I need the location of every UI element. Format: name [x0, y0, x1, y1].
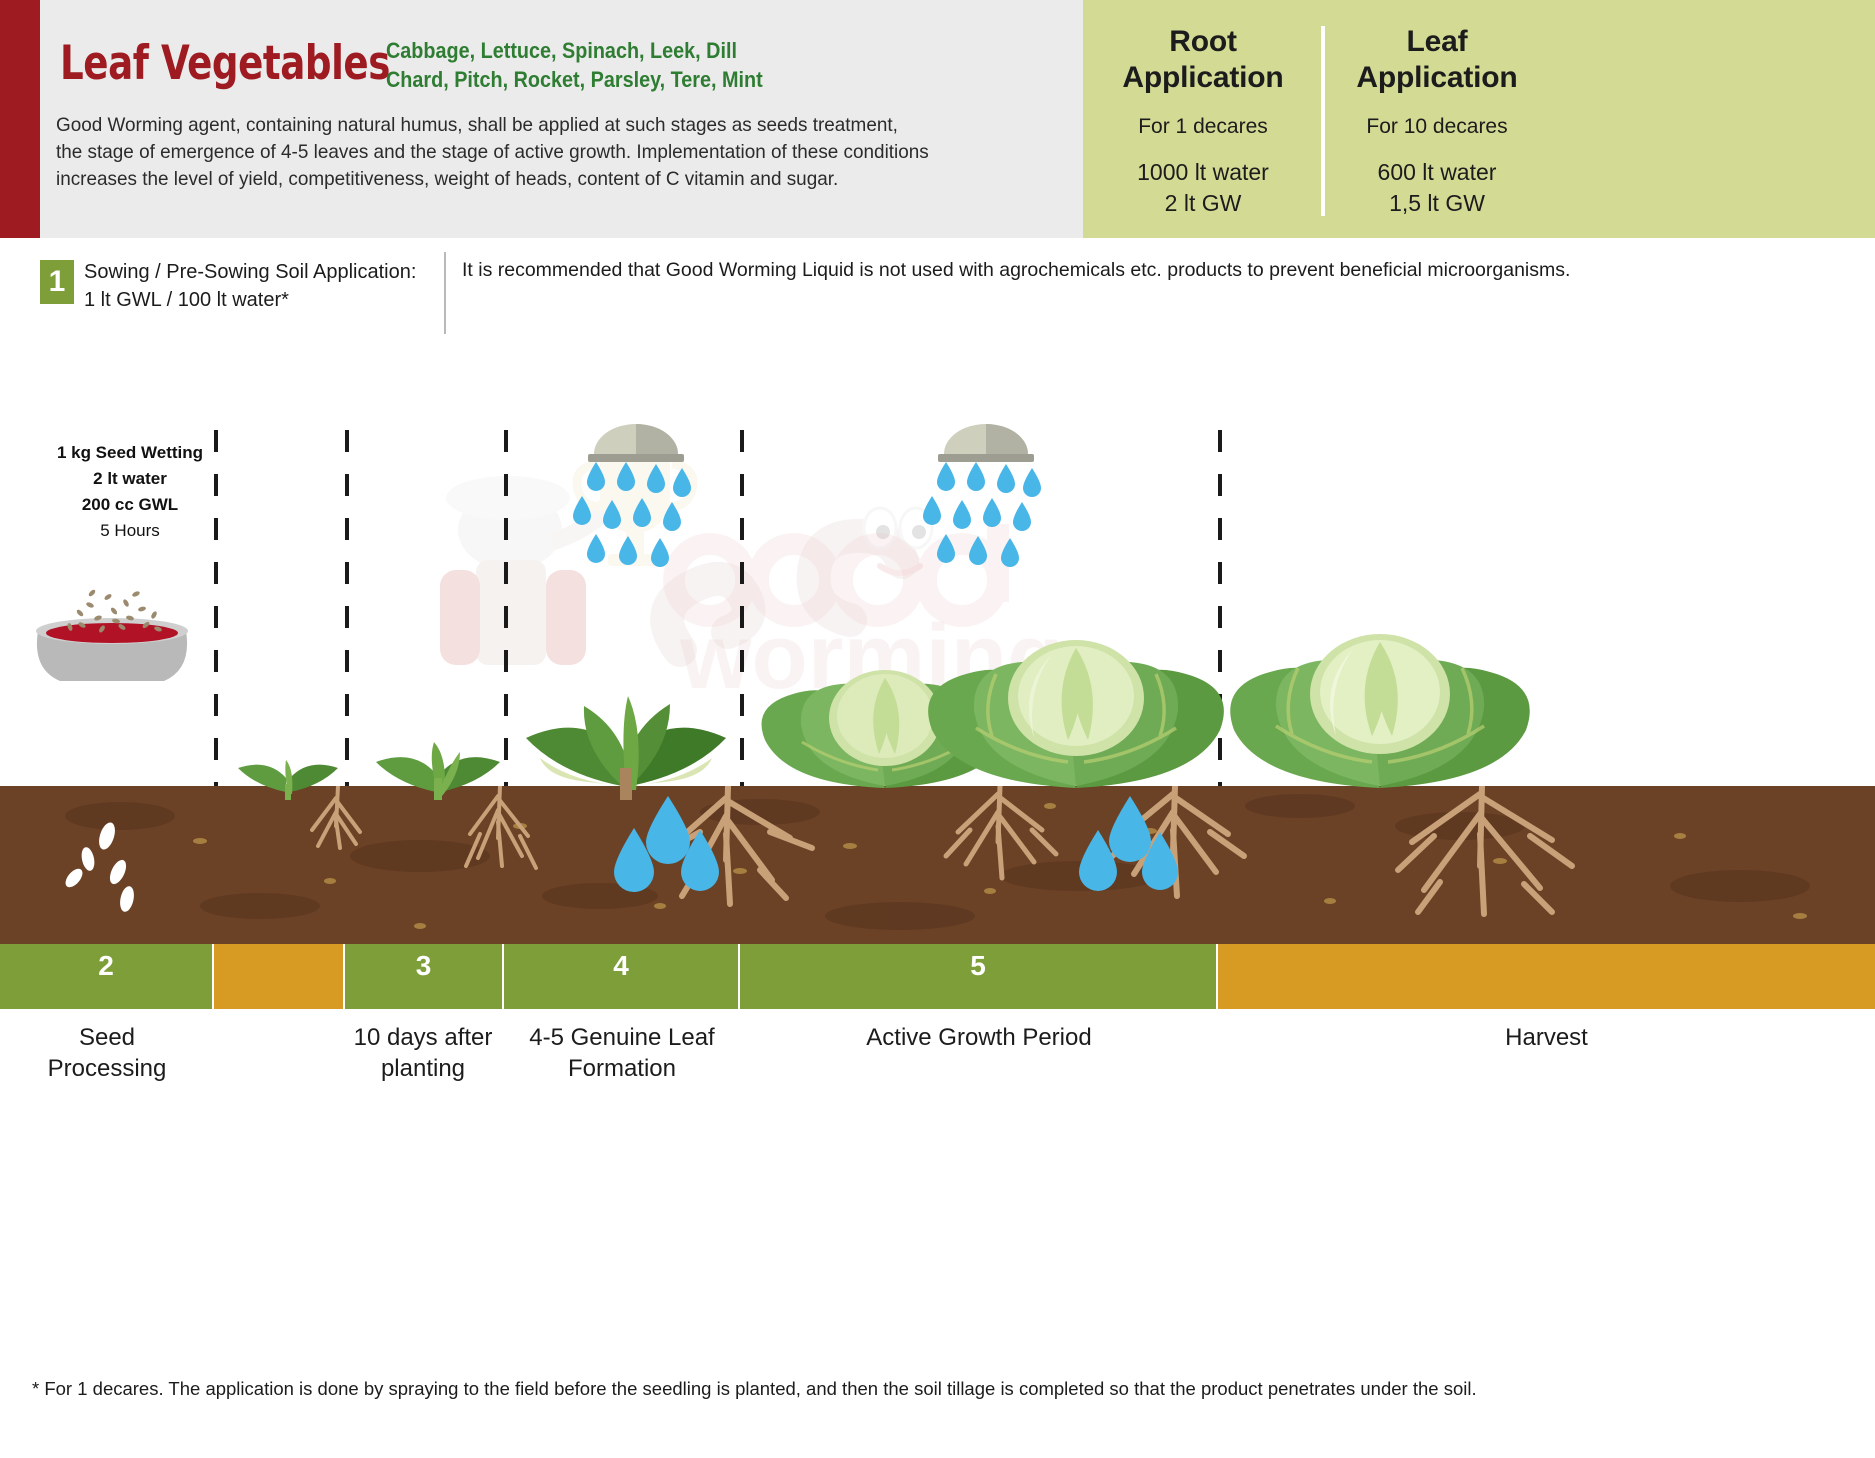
step-1-label-line-1: Sowing / Pre-Sowing Soil Application: [84, 258, 444, 286]
root-application-title: Root Application [1078, 24, 1328, 96]
vegetable-list: Cabbage, Lettuce, Spinach, Leek, Dill Ch… [386, 36, 763, 94]
stage-label-5: Active Growth Period [740, 1022, 1218, 1053]
step-1-label-line-2: 1 lt GWL / 100 lt water* [84, 286, 444, 314]
seed-soaking-bowl-icon [22, 585, 202, 695]
leaf-application-decares: For 10 decares [1312, 115, 1562, 139]
timeline-divider-1 [214, 430, 218, 790]
leaf-application-title-line-2: Application [1356, 61, 1517, 94]
seed-treatment-info: 1 kg Seed Wetting 2 lt water 200 cc GWL … [30, 440, 230, 544]
stage-label-4-line-2: Formation [504, 1053, 740, 1084]
page-title: Leaf Vegetables [60, 36, 390, 91]
stage-label-2-line-1: Seed [0, 1022, 214, 1053]
stage-label-3-line-2: planting [340, 1053, 506, 1084]
plant-seedling [368, 720, 508, 800]
stage-segment-gap-1[interactable] [214, 944, 345, 1009]
leaf-application-values: 600 lt water 1,5 lt GW [1312, 157, 1562, 219]
stage-number-2: 2 [0, 950, 212, 982]
stage-number-5: 5 [740, 950, 1216, 982]
vegetable-list-line-1: Cabbage, Lettuce, Spinach, Leek, Dill [386, 36, 763, 65]
root-application-title-line-2: Application [1122, 61, 1283, 94]
seed-treatment-line-2: 2 lt water [30, 466, 230, 492]
stage-segment-5[interactable]: 5 [740, 944, 1218, 1009]
plant-cabbage-harvest [1230, 602, 1530, 800]
stage-segment-4[interactable]: 4 [504, 944, 740, 1009]
infographic-root: Leaf Vegetables Cabbage, Lettuce, Spinac… [0, 0, 1875, 1458]
root-application-dose: 2 lt GW [1165, 190, 1242, 216]
stage-label-4: 4-5 Genuine Leaf Formation [504, 1022, 740, 1084]
stage-label-3: 10 days after planting [340, 1022, 506, 1084]
leaf-application-title-line-1: Leaf [1407, 25, 1468, 58]
leaf-application-dose: 1,5 lt GW [1389, 190, 1485, 216]
stage-label-harvest-line-1: Harvest [1218, 1022, 1875, 1053]
seed-treatment-line-3: 200 cc GWL [30, 492, 230, 518]
step-1-note: It is recommended that Good Worming Liqu… [462, 259, 1862, 282]
timeline-divider-4 [740, 430, 744, 790]
step-1-number-badge: 1 [40, 260, 74, 304]
stage-label-4-line-1: 4-5 Genuine Leaf [504, 1022, 740, 1053]
seed-treatment-line-1: 1 kg Seed Wetting [30, 440, 230, 466]
stage-labels: Seed Processing 10 days after planting 4… [0, 1022, 1875, 1102]
header-description: Good Worming agent, containing natural h… [56, 112, 929, 193]
stage-number-4: 4 [504, 950, 738, 982]
stage-label-2-line-2: Processing [0, 1053, 214, 1084]
root-application-values: 1000 lt water 2 lt GW [1078, 157, 1328, 219]
shower-droplets-stage-5 [920, 462, 1050, 582]
leaf-application-block: Leaf Application For 10 decares 600 lt w… [1312, 24, 1562, 219]
step-1-row: 1 Sowing / Pre-Sowing Soil Application: … [0, 250, 1875, 340]
footnote: * For 1 decares. The application is done… [32, 1378, 1832, 1400]
header-red-accent-bar [0, 0, 40, 238]
stage-segment-2[interactable]: 2 [0, 944, 214, 1009]
root-application-water: 1000 lt water [1137, 159, 1269, 185]
growth-timeline-scene: worming 1 kg Seed Wetting 2 lt water 200… [0, 380, 1875, 940]
stage-label-2: Seed Processing [0, 1022, 214, 1084]
stage-number-3: 3 [345, 950, 502, 982]
seed-treatment-line-4: 5 Hours [30, 518, 230, 544]
plant-cabbage-medium [926, 604, 1226, 800]
root-application-block: Root Application For 1 decares 1000 lt w… [1078, 24, 1328, 219]
timeline-divider-2 [345, 430, 349, 790]
stage-label-3-line-1: 10 days after [340, 1022, 506, 1053]
plant-4-5-leaves [520, 660, 730, 800]
leaf-application-water: 600 lt water [1378, 159, 1497, 185]
plant-sprout-small [228, 740, 348, 800]
stage-segment-harvest[interactable] [1218, 944, 1875, 1009]
header: Leaf Vegetables Cabbage, Lettuce, Spinac… [0, 0, 1875, 238]
stage-label-harvest: Harvest [1218, 1022, 1875, 1053]
shower-droplets-stage-4 [570, 462, 700, 582]
stage-bar: 2 3 4 5 [0, 944, 1875, 1009]
step-1-label: Sowing / Pre-Sowing Soil Application: 1 … [84, 258, 444, 314]
root-application-decares: For 1 decares [1078, 115, 1328, 139]
stage-segment-3[interactable]: 3 [345, 944, 504, 1009]
step-1-divider [444, 252, 446, 334]
soil-band [0, 786, 1875, 946]
vegetable-list-line-2: Chard, Pitch, Rocket, Parsley, Tere, Min… [386, 65, 763, 94]
stage-label-5-line-1: Active Growth Period [740, 1022, 1218, 1053]
root-application-title-line-1: Root [1169, 25, 1237, 58]
leaf-application-title: Leaf Application [1312, 24, 1562, 96]
